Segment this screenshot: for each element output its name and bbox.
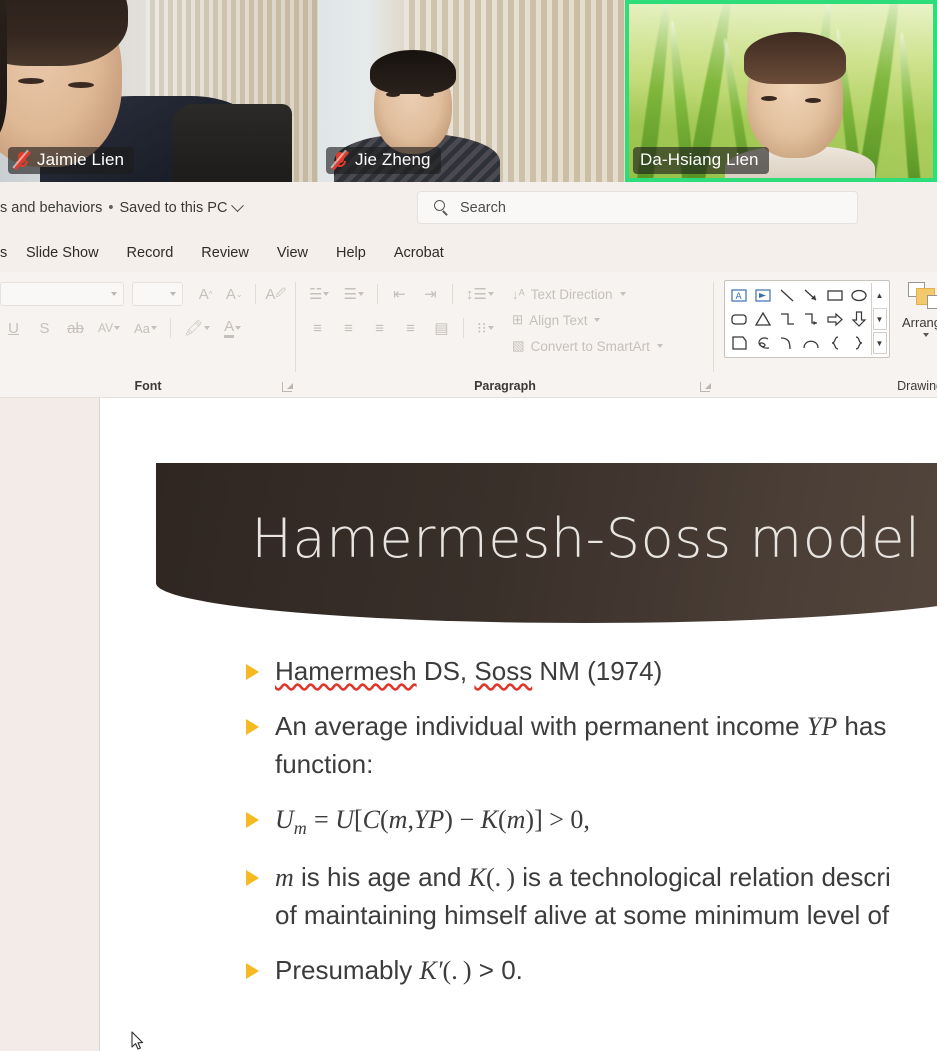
- search-placeholder: Search: [460, 200, 506, 216]
- participant-hair: [370, 50, 456, 94]
- oval-shape[interactable]: [849, 285, 869, 305]
- character-spacing-button[interactable]: AV: [93, 315, 125, 341]
- eye-left: [386, 92, 400, 97]
- paragraph-dialog-launcher[interactable]: [700, 382, 710, 392]
- eye-right: [420, 92, 434, 97]
- participant-name-badge: Jie Zheng: [326, 147, 441, 174]
- screen-root: Jaimie Lien Jie Zheng: [0, 0, 937, 1051]
- title-bar: s and behaviors • Saved to this PC Searc…: [0, 182, 937, 234]
- participant-name: Jie Zheng: [355, 150, 431, 170]
- bullet-item: m is his age and K(. ) is a technologica…: [246, 859, 937, 934]
- bullet-text-age-relation: m is his age and K(. ) is a technologica…: [275, 859, 937, 934]
- tab-acrobat[interactable]: Acrobat: [380, 241, 458, 265]
- font-size-combo[interactable]: [132, 282, 184, 306]
- strikethrough-button[interactable]: ab: [62, 315, 89, 341]
- ribbon-group-label-font: Font: [0, 379, 296, 393]
- bullet-marker-icon: [246, 664, 259, 680]
- video-tile-jie-zheng[interactable]: Jie Zheng: [318, 0, 625, 182]
- ribbon-tab-bar: s Slide Show Record Review View Help Acr…: [0, 234, 937, 272]
- tab-truncated[interactable]: s: [0, 241, 12, 265]
- bullet-text-utility-equation: Um = U[C(m,YP) − K(m)] > 0,: [275, 801, 590, 842]
- align-right-button[interactable]: ≡: [366, 315, 393, 341]
- video-tile-jaimie-lien[interactable]: Jaimie Lien: [0, 0, 318, 182]
- bullets-button[interactable]: ☱: [304, 281, 334, 307]
- left-brace-shape[interactable]: [825, 333, 845, 353]
- participant-name-badge: Jaimie Lien: [8, 147, 134, 174]
- zoom-video-strip: Jaimie Lien Jie Zheng: [0, 0, 937, 182]
- chevron-down-icon[interactable]: ▼: [873, 308, 887, 330]
- arrow-shape[interactable]: [801, 285, 821, 305]
- down-arrow-shape[interactable]: [849, 309, 869, 329]
- scribble-shape[interactable]: [753, 333, 773, 353]
- clear-formatting-button[interactable]: A🖉: [263, 281, 288, 307]
- underline-button[interactable]: U: [0, 315, 27, 341]
- eye-right: [805, 98, 821, 103]
- tab-help[interactable]: Help: [322, 241, 380, 265]
- smartart-icon: ▧: [512, 338, 525, 354]
- columns-button[interactable]: ▤: [428, 315, 455, 341]
- text-highlight-color-button[interactable]: 🖍: [179, 315, 215, 341]
- decrease-indent-button[interactable]: ⇤: [386, 281, 413, 307]
- document-title: s and behaviors: [0, 200, 102, 216]
- bullet-text-citation: Hamermesh DS, Soss NM (1974): [275, 653, 662, 690]
- save-state-label: Saved to this PC: [119, 200, 227, 216]
- participant-name-badge: Da-Hsiang Lien: [633, 147, 769, 174]
- bullet-marker-icon: [246, 870, 259, 886]
- decrease-font-size-button[interactable]: A⌄: [222, 281, 247, 307]
- mouse-pointer-arrow: [131, 1031, 145, 1051]
- tab-slide-show[interactable]: Slide Show: [12, 241, 113, 265]
- bullet-text-derivative: Presumably K′(. ) > 0.: [275, 952, 523, 990]
- tab-review[interactable]: Review: [187, 241, 263, 265]
- block-arrow-shape[interactable]: [825, 309, 845, 329]
- convert-to-smartart-button[interactable]: ▧ Convert to SmartArt: [509, 333, 666, 359]
- text-direction-button[interactable]: ↓ᴬ Text Direction: [509, 281, 666, 307]
- title-separator: •: [108, 200, 113, 216]
- slide-title-banner: Hamermesh-Soss model: [156, 463, 937, 623]
- double-chevron-down-icon[interactable]: ▼: [873, 332, 887, 354]
- line-spacing-button[interactable]: ↕☰: [461, 281, 499, 307]
- ribbon-group-drawing: A: [714, 272, 937, 398]
- arc-shape[interactable]: [801, 333, 821, 353]
- text-box-shape[interactable]: A: [729, 285, 749, 305]
- ribbon: A^ A⌄ A🖉 U S ab AV Aa 🖍 A Font: [0, 272, 937, 398]
- align-center-button[interactable]: ≡: [335, 315, 362, 341]
- participant-name: Da-Hsiang Lien: [640, 150, 759, 170]
- arrow-callout-shape[interactable]: [753, 285, 773, 305]
- shapes-gallery[interactable]: A: [724, 280, 890, 358]
- office-chair: [172, 104, 292, 182]
- chevron-up-icon[interactable]: ▲: [873, 284, 887, 306]
- ribbon-group-label-drawing: Drawing: [714, 379, 937, 393]
- arrange-label: Arrange: [902, 315, 937, 330]
- bullet-item: Um = U[C(m,YP) − K(m)] > 0,: [246, 801, 937, 842]
- bullet-marker-icon: [246, 812, 259, 828]
- bullet-text-permanent-income: An average individual with permanent inc…: [275, 708, 937, 783]
- bullet-marker-icon: [246, 963, 259, 979]
- elbow-arrow-connector-shape[interactable]: [801, 309, 821, 329]
- increase-font-size-button[interactable]: A^: [193, 281, 218, 307]
- ribbon-group-label-paragraph: Paragraph: [296, 379, 714, 393]
- text-direction-icon: ↓ᴬ: [512, 287, 525, 302]
- shapes-grid: A: [727, 283, 871, 355]
- line-shape[interactable]: [777, 285, 797, 305]
- tab-record[interactable]: Record: [113, 241, 188, 265]
- bullet-item: An average individual with permanent inc…: [246, 708, 937, 783]
- arrange-button[interactable]: Arrange: [902, 280, 937, 358]
- curve-shape[interactable]: [777, 333, 797, 353]
- bullet-item: Hamermesh DS, Soss NM (1974): [246, 653, 937, 690]
- eye-right: [68, 82, 94, 88]
- shapes-gallery-scrollbar[interactable]: ▲ ▼ ▼: [871, 283, 887, 355]
- font-color-button[interactable]: A: [219, 315, 246, 341]
- ribbon-group-paragraph: ☱ ☰ ⇤ ⇥ ↕☰ ≡ ≡ ≡ ≡: [296, 272, 714, 398]
- slide-body-placeholder[interactable]: Hamermesh DS, Soss NM (1974) An average …: [246, 653, 937, 1008]
- tab-view[interactable]: View: [263, 241, 322, 265]
- svg-text:A: A: [736, 292, 743, 302]
- search-icon: [434, 200, 449, 215]
- triangle-shape[interactable]: [753, 309, 773, 329]
- muted-microphone-icon: [333, 151, 348, 170]
- align-text-icon: ⊞: [512, 312, 523, 328]
- smartart-layout-button[interactable]: ⁝⁝: [472, 315, 499, 341]
- pentagon-shape[interactable]: [729, 333, 749, 353]
- font-name-combo[interactable]: [0, 282, 124, 306]
- rectangle-shape[interactable]: [825, 285, 845, 305]
- elbow-connector-shape[interactable]: [777, 309, 797, 329]
- bullet-marker-icon: [246, 719, 259, 735]
- text-shadow-button[interactable]: S: [31, 315, 58, 341]
- search-input[interactable]: Search: [417, 191, 858, 224]
- participant-hair: [744, 32, 846, 84]
- font-dialog-launcher[interactable]: [282, 382, 292, 392]
- justify-button[interactable]: ≡: [397, 315, 424, 341]
- numbering-button[interactable]: ☰: [338, 281, 368, 307]
- eye-left: [761, 96, 777, 101]
- align-text-button[interactable]: ⊞ Align Text: [509, 307, 666, 333]
- bullet-item: Presumably K′(. ) > 0.: [246, 952, 937, 990]
- eye-left: [18, 78, 44, 84]
- increase-indent-button[interactable]: ⇥: [417, 281, 444, 307]
- muted-microphone-icon: [15, 151, 30, 170]
- change-case-button[interactable]: Aa: [129, 315, 162, 341]
- video-tile-da-hsiang-lien[interactable]: Da-Hsiang Lien: [625, 0, 937, 182]
- right-brace-shape[interactable]: [849, 333, 869, 353]
- slide-canvas-area: Hamermesh-Soss model Hamermesh DS, Soss …: [0, 398, 937, 1051]
- align-left-button[interactable]: ≡: [304, 315, 331, 341]
- document-title-area[interactable]: s and behaviors • Saved to this PC: [0, 200, 242, 216]
- rounded-rectangle-shape[interactable]: [729, 309, 749, 329]
- arrange-icon: [908, 282, 937, 312]
- slide[interactable]: Hamermesh-Soss model Hamermesh DS, Soss …: [100, 398, 937, 1051]
- slide-title[interactable]: Hamermesh-Soss model: [156, 507, 937, 570]
- ribbon-group-font: A^ A⌄ A🖉 U S ab AV Aa 🖍 A Font: [0, 272, 296, 398]
- participant-name: Jaimie Lien: [37, 150, 124, 170]
- chevron-down-icon[interactable]: [232, 199, 245, 212]
